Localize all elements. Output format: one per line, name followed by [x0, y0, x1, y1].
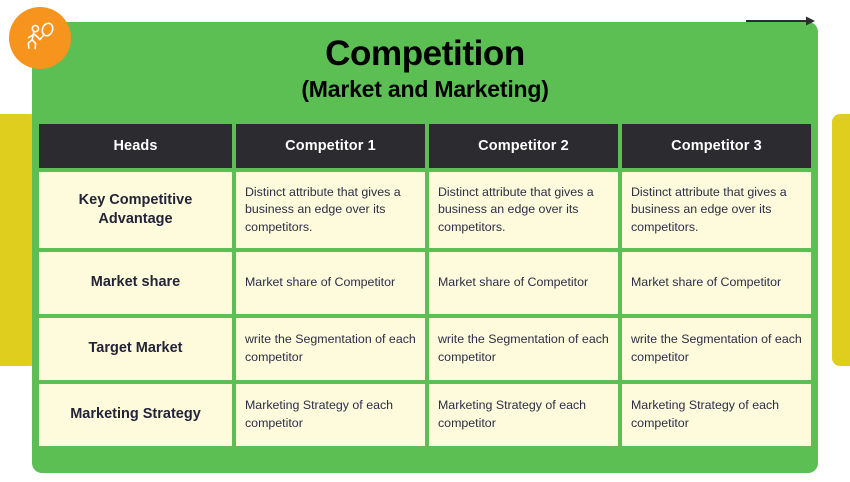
row-cell-competitor-3: Distinct attribute that gives a business…	[622, 172, 811, 248]
table-row: Target Market write the Segmentation of …	[39, 318, 811, 380]
decorative-bar-right	[832, 114, 850, 366]
row-cell-competitor-1: write the Segmentation of each competito…	[236, 318, 425, 380]
right-arrow-icon	[744, 14, 816, 28]
competition-table: Heads Competitor 1 Competitor 2 Competit…	[39, 124, 811, 446]
row-cell-competitor-3: write the Segmentation of each competito…	[622, 318, 811, 380]
row-cell-competitor-2: Market share of Competitor	[429, 252, 618, 314]
column-header-competitor-3: Competitor 3	[622, 124, 811, 168]
row-cell-competitor-1: Distinct attribute that gives a business…	[236, 172, 425, 248]
row-head-cell: Marketing Strategy	[39, 384, 232, 446]
row-cell-competitor-2: Distinct attribute that gives a business…	[429, 172, 618, 248]
row-head-cell: Target Market	[39, 318, 232, 380]
page-title: Competition	[32, 36, 818, 73]
title-block: Competition (Market and Marketing)	[32, 36, 818, 101]
page-subtitle: (Market and Marketing)	[32, 77, 818, 101]
table-row: Market share Market share of Competitor …	[39, 252, 811, 314]
row-head-cell: Market share	[39, 252, 232, 314]
tennis-player-icon	[20, 18, 60, 58]
row-cell-competitor-3: Marketing Strategy of each competitor	[622, 384, 811, 446]
brand-badge	[9, 7, 71, 69]
row-cell-competitor-1: Marketing Strategy of each competitor	[236, 384, 425, 446]
column-header-heads: Heads	[39, 124, 232, 168]
row-cell-competitor-3: Market share of Competitor	[622, 252, 811, 314]
row-cell-competitor-1: Market share of Competitor	[236, 252, 425, 314]
column-header-competitor-1: Competitor 1	[236, 124, 425, 168]
table-row: Key Competitive Advantage Distinct attri…	[39, 172, 811, 248]
column-header-competitor-2: Competitor 2	[429, 124, 618, 168]
table-header-row: Heads Competitor 1 Competitor 2 Competit…	[39, 124, 811, 168]
row-head-cell: Key Competitive Advantage	[39, 172, 232, 248]
row-cell-competitor-2: write the Segmentation of each competito…	[429, 318, 618, 380]
slide-panel: Competition (Market and Marketing) Heads…	[32, 22, 818, 473]
table-row: Marketing Strategy Marketing Strategy of…	[39, 384, 811, 446]
row-cell-competitor-2: Marketing Strategy of each competitor	[429, 384, 618, 446]
